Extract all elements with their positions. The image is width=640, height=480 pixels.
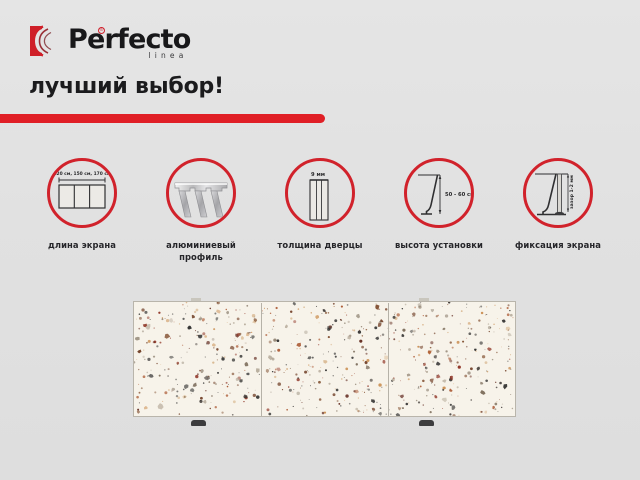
page-title: лучший выбор! [29,74,224,99]
feature-label: фиксация экрана [502,239,614,251]
screen-length-icon: 120 см, 150 см, 170 см [47,158,117,228]
feature-screen-length[interactable]: 120 см, 150 см, 170 см длина экрана [26,158,138,263]
bath-screen-panel [133,301,516,417]
feature-aluminium-profile[interactable]: алюминиевый профиль [145,158,257,263]
perfecto-mark-icon [28,24,62,58]
svg-text:зазор 1-2 мм: зазор 1-2 мм [569,175,575,209]
feature-label: длина экрана [26,239,138,251]
accent-divider-bar [0,114,325,123]
feature-label: алюминиевый профиль [145,239,257,263]
feature-install-height[interactable]: 50 - 60 см высота установки [383,158,495,263]
product-image [133,301,516,421]
panel-divider [388,303,389,417]
feature-row: 120 см, 150 см, 170 см длина экрана [0,158,640,263]
feature-door-thickness[interactable]: 9 мм толщина дверцы [264,158,376,263]
feature-label: толщина дверцы [264,239,376,251]
registered-trademark-icon: ® [98,27,105,34]
panel-divider [261,303,262,417]
feature-label: высота установки [383,239,495,251]
aluminium-profile-icon [166,158,236,228]
screen-fixation-icon: зазор 1-2 мм [523,158,593,228]
terrazzo-texture [134,302,515,416]
svg-text:120 см, 150 см, 170 см: 120 см, 150 см, 170 см [53,171,110,177]
panel-foot [419,420,434,426]
install-height-icon: 50 - 60 см [404,158,474,228]
svg-text:9 мм: 9 мм [311,172,325,178]
feature-screen-fixation[interactable]: зазор 1-2 мм фиксация экрана [502,158,614,263]
door-thickness-icon: 9 мм [285,158,355,228]
panel-foot [191,420,206,426]
slide-canvas: Perfecto linea ® лучший выбор! 120 см, 1… [0,0,640,480]
brand-logo: Perfecto linea ® [28,24,191,60]
svg-text:50 - 60 см: 50 - 60 см [445,192,471,198]
